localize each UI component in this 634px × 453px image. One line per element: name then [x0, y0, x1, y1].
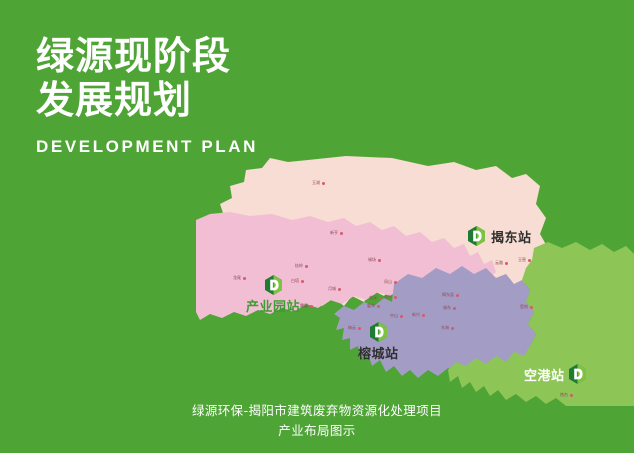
station-label-jiedong: 揭东站: [491, 227, 532, 246]
station-label-rongcheng: 榕城站: [358, 343, 399, 362]
city-dot: [530, 306, 533, 309]
city-name-label: 霖磐: [300, 303, 308, 309]
green-leaf-logo-icon: [370, 322, 387, 342]
city-name-label: 锡东: [443, 305, 451, 311]
city-dot: [453, 307, 456, 310]
city-dot: [570, 394, 573, 397]
city-dot: [456, 294, 459, 297]
city-dot: [379, 297, 382, 300]
green-leaf-logo-icon: [569, 364, 586, 384]
caption-line-1: 绿源环保-揭阳市建筑废弃物资源化处理项目: [0, 401, 634, 421]
city-name-label: 登岗: [520, 304, 528, 310]
page-subtitle-english: DEVELOPMENT PLAN: [36, 137, 366, 157]
caption-line-2: 产业布局图示: [0, 421, 634, 441]
city-dot: [422, 314, 425, 317]
city-dot: [322, 182, 325, 185]
city-name-label: 新兴: [412, 312, 420, 318]
station-marker-chanyeyuan[interactable]: 产业园站: [246, 275, 300, 315]
city-name-label: 月城: [328, 286, 336, 292]
city-name-label: 玉湖: [312, 180, 320, 186]
development-plan-poster: 绿源现阶段 发展规划 DEVELOPMENT PLAN: [0, 0, 634, 453]
city-dot: [394, 296, 397, 299]
city-name-label: 中山: [390, 313, 398, 319]
city-dot: [338, 288, 341, 291]
city-name-label: 新亨: [330, 230, 338, 236]
city-dot: [340, 232, 343, 235]
station-marker-rongcheng[interactable]: 榕城站: [358, 322, 399, 362]
page-title-line-2: 发展规划: [36, 78, 366, 122]
caption-block: 绿源环保-揭阳市建筑废弃物资源化处理项目 产业布局图示: [0, 401, 634, 441]
title-block: 绿源现阶段 发展规划 DEVELOPMENT PLAN: [36, 34, 366, 157]
city-name-label: 龙尾: [233, 275, 241, 281]
city-name-label: 磐东: [367, 303, 375, 309]
city-name-label: 云路: [495, 260, 503, 266]
city-dot: [310, 305, 313, 308]
city-name-label: 揭东县: [442, 292, 454, 298]
city-dot: [377, 305, 380, 308]
city-name-label: 炮台: [560, 392, 568, 398]
city-dot: [305, 265, 308, 268]
city-name-label: 曲溪: [369, 295, 377, 301]
green-leaf-logo-icon: [468, 226, 485, 246]
city-dot: [528, 259, 531, 262]
city-dot: [394, 281, 397, 284]
city-dot: [301, 280, 304, 283]
station-label-chanyeyuan: 产业园站: [246, 296, 300, 315]
city-name-label: 锡场: [368, 257, 376, 263]
station-label-konggang: 空港站: [524, 365, 565, 384]
station-marker-konggang[interactable]: 空港站: [524, 364, 586, 384]
city-dot: [451, 327, 454, 330]
city-name-label: 梅云: [348, 325, 356, 331]
city-name-label: 凤山: [384, 279, 392, 285]
page-title-line-1: 绿源现阶段: [36, 34, 366, 78]
city-name-label: 桂岭: [295, 263, 303, 269]
city-name-label: 东海: [441, 325, 449, 331]
station-marker-jiedong[interactable]: 揭东站: [468, 226, 532, 246]
city-name-label: 玉窖: [518, 257, 526, 263]
city-dot: [505, 262, 508, 265]
city-name-label: 东兴: [384, 294, 392, 300]
city-dot: [400, 315, 403, 318]
green-leaf-logo-icon: [265, 275, 282, 295]
city-dot: [378, 259, 381, 262]
